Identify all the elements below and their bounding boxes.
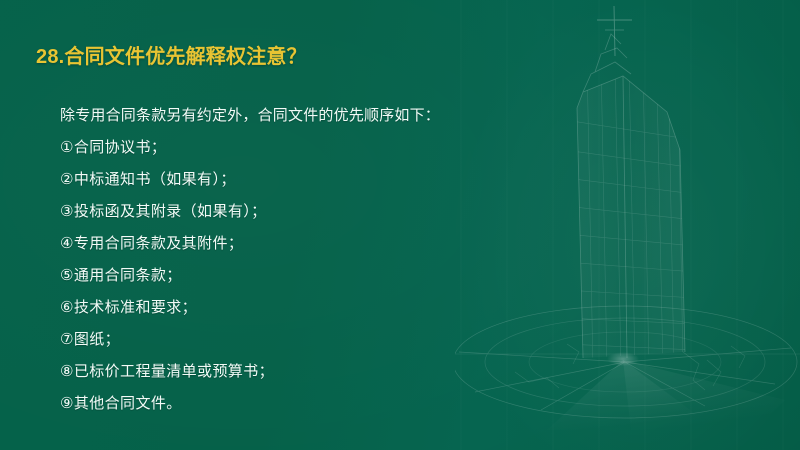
list-item: ⑤通用合同条款； [60,260,490,292]
list-item: ②中标通知书（如果有）； [60,164,490,196]
list-item: ⑥技术标准和要求； [60,292,490,324]
list-item: ⑨其他合同文件。 [60,388,490,420]
slide-body: 除专用合同条款另有约定外，合同文件的优先顺序如下： ①合同协议书； ②中标通知书… [60,100,490,420]
list-item: ⑧已标价工程量清单或预算书； [60,356,490,388]
list-item: ⑦图纸； [60,324,490,356]
list-item: ③投标函及其附录（如果有）； [60,196,490,228]
body-lead-line: 除专用合同条款另有约定外，合同文件的优先顺序如下： [60,100,490,132]
list-item: ④专用合同条款及其附件； [60,228,490,260]
list-item: ①合同协议书； [60,132,490,164]
slide-canvas: 28.合同文件优先解释权注意？ 除专用合同条款另有约定外，合同文件的优先顺序如下… [0,0,800,450]
slide-title: 28.合同文件优先解释权注意？ [36,40,307,69]
